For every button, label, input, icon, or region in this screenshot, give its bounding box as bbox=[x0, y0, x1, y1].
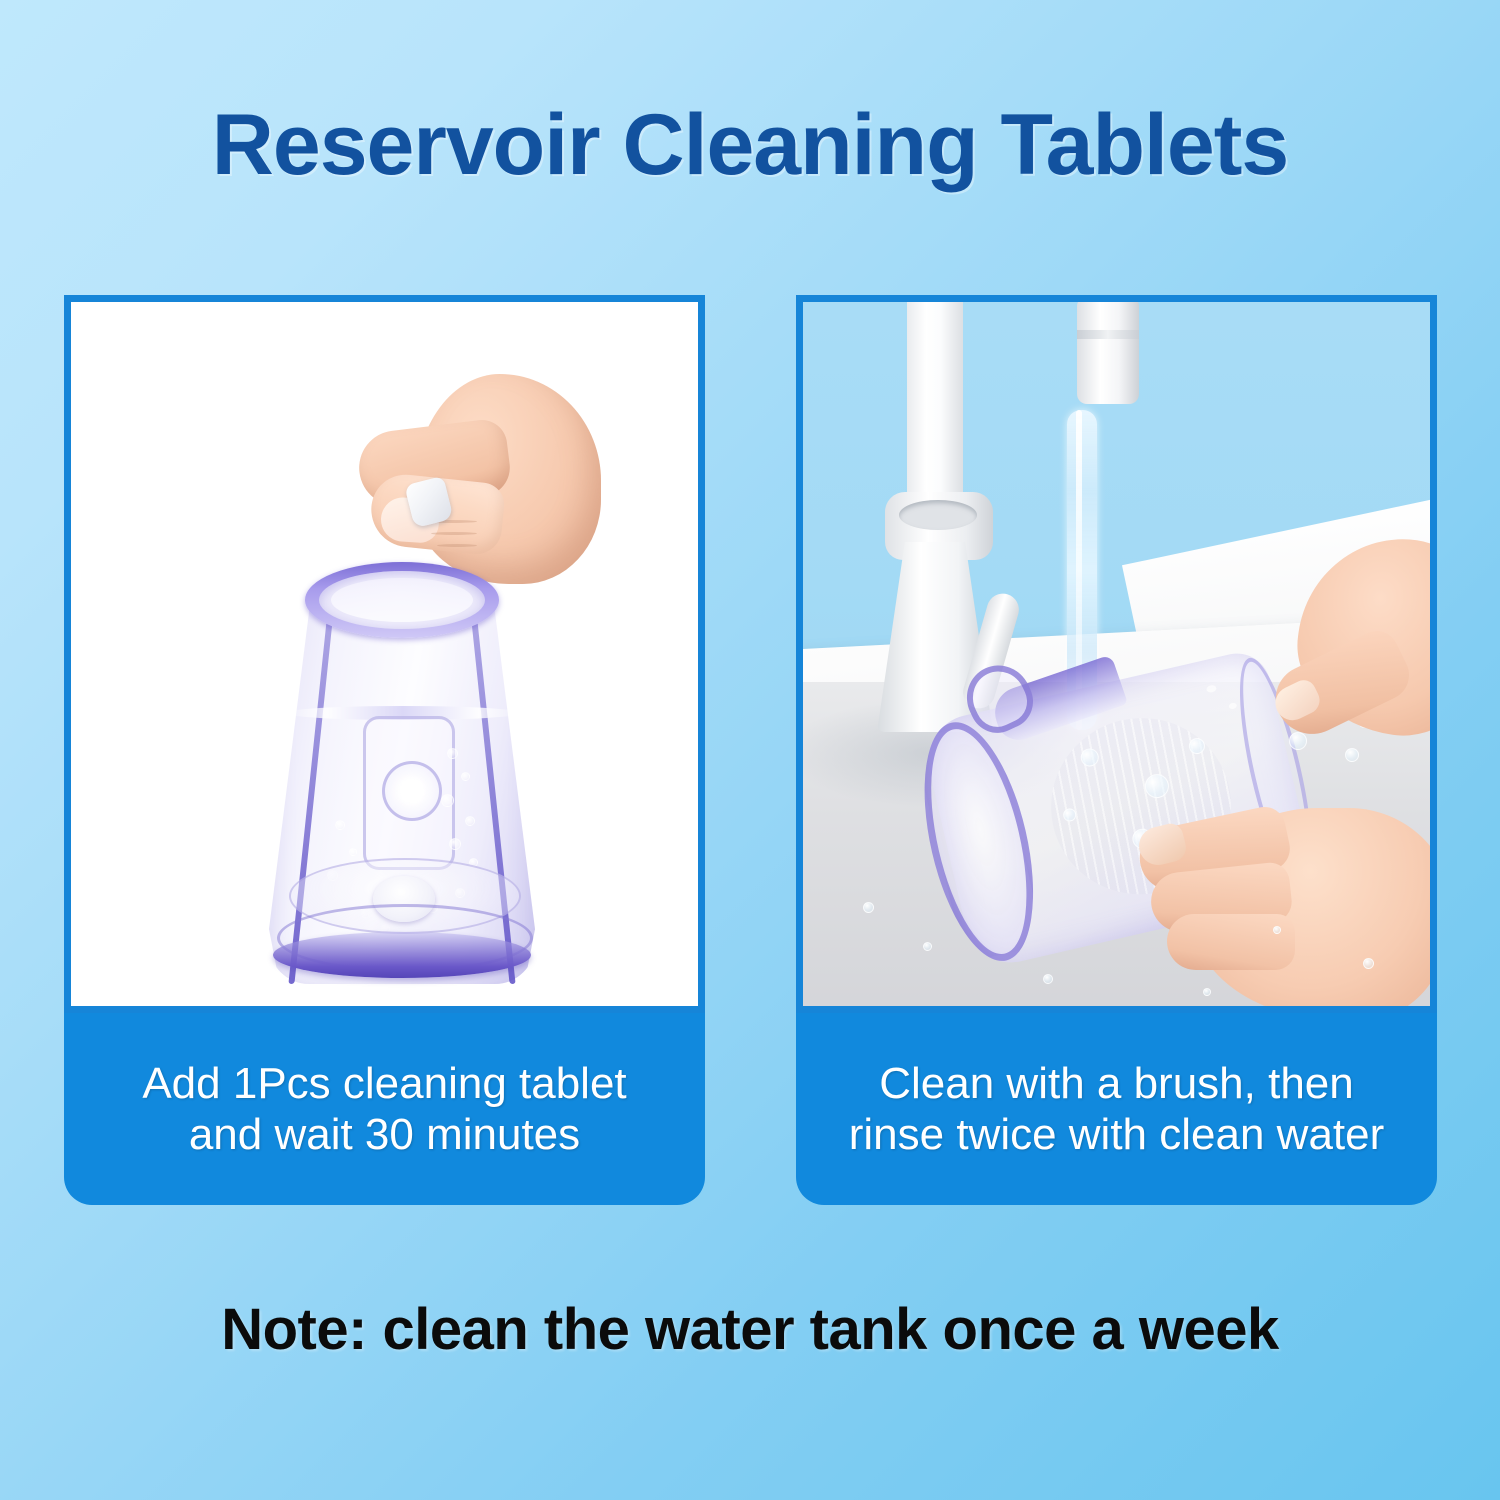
step-1-photo-frame bbox=[64, 295, 705, 1013]
step-1-caption-line-2: and wait 30 minutes bbox=[142, 1109, 626, 1160]
step-2-caption-line-1: Clean with a brush, then bbox=[849, 1058, 1385, 1109]
water-droplet bbox=[1203, 988, 1211, 996]
water-reservoir-tank bbox=[269, 558, 535, 984]
hand-lower-icon bbox=[1133, 792, 1430, 1006]
water-droplet bbox=[923, 942, 932, 951]
step-2-photo bbox=[803, 302, 1430, 1006]
water-droplet bbox=[1363, 958, 1374, 969]
step-card-1: Add 1Pcs cleaning tablet and wait 30 min… bbox=[64, 295, 705, 1205]
step-1-photo bbox=[71, 302, 698, 1006]
step-2-caption-box: Clean with a brush, then rinse twice wit… bbox=[796, 1013, 1437, 1205]
infographic-root: Reservoir Cleaning Tablets bbox=[0, 0, 1500, 1500]
step-2-caption-line-2: rinse twice with clean water bbox=[849, 1109, 1385, 1160]
page-title: Reservoir Cleaning Tablets bbox=[0, 96, 1500, 195]
step-2-caption-text: Clean with a brush, then rinse twice wit… bbox=[849, 1058, 1385, 1160]
step-1-caption-box: Add 1Pcs cleaning tablet and wait 30 min… bbox=[64, 1013, 705, 1205]
step-2-photo-frame bbox=[796, 295, 1437, 1013]
bottom-note: Note: clean the water tank once a week bbox=[0, 1296, 1500, 1363]
water-droplet bbox=[863, 902, 874, 913]
water-droplet bbox=[1273, 926, 1281, 934]
step-card-2: Clean with a brush, then rinse twice wit… bbox=[796, 295, 1437, 1205]
step-1-caption-line-1: Add 1Pcs cleaning tablet bbox=[142, 1058, 626, 1109]
step-1-caption-text: Add 1Pcs cleaning tablet and wait 30 min… bbox=[142, 1058, 626, 1160]
hand-upper-icon bbox=[1273, 538, 1430, 768]
water-droplet bbox=[1043, 974, 1053, 984]
